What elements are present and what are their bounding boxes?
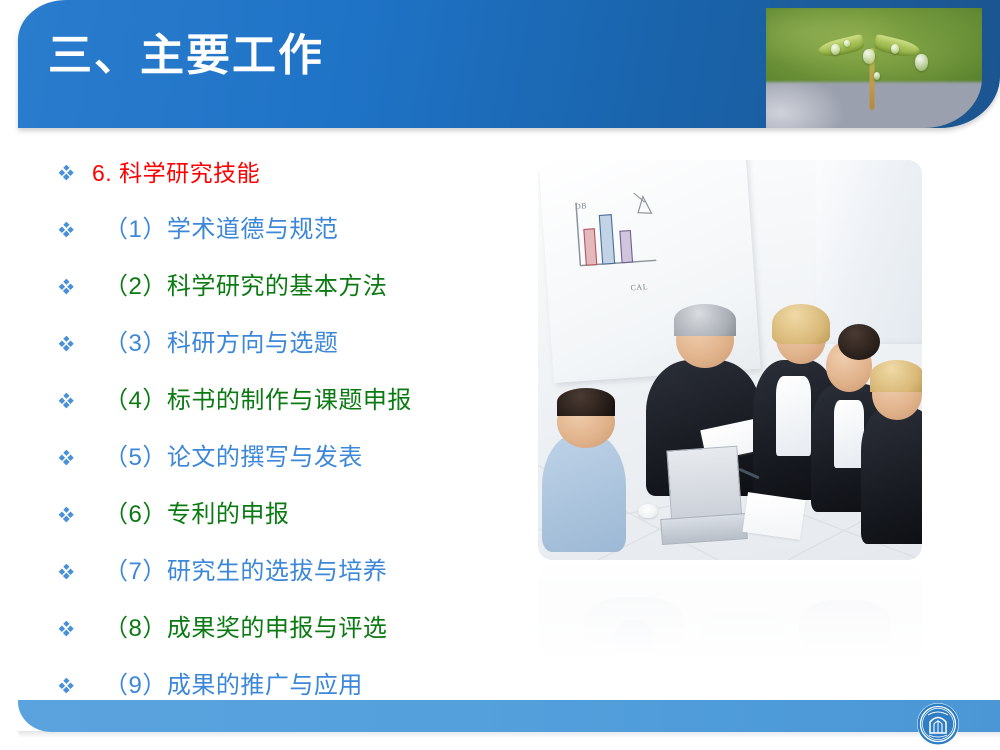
water-droplet [831,44,840,55]
bullet-list-item: （5）论文的撰写与发表 [58,443,528,500]
water-droplet [863,49,875,64]
document-on-table [743,492,806,540]
bullet-list: 6. 科学研究技能（1）学术道德与规范（2）科学研究的基本方法（3）科研方向与选… [58,158,528,728]
four-diamond-bullet-icon [58,222,92,238]
four-diamond-bullet-icon [58,336,92,352]
office-window [814,160,922,344]
presenter-hair [674,304,735,336]
participant-hair-bun [838,324,880,360]
bullet-list-item-label: （7）研究生的选拔与培养 [92,557,528,587]
bullet-list-item: （7）研究生的选拔与培养 [58,557,528,614]
participant-body [861,408,922,544]
bullet-list-item-label: （9）成果的推广与应用 [92,671,528,701]
bullet-list-item-label: （5）论文的撰写与发表 [92,443,528,473]
bullet-list-item: （8）成果奖的申报与评选 [58,614,528,671]
university-seal-logo [916,702,960,746]
water-droplet [915,54,928,71]
four-diamond-bullet-icon [58,564,92,580]
footer-bar-shadow [18,731,1000,738]
footer-bar [18,700,1000,732]
four-diamond-bullet-icon [58,507,92,523]
business-meeting-photo: DB CAL [538,160,922,560]
four-diamond-bullet-icon [58,450,92,466]
bullet-list-item-label: （1）学术道德与规范 [92,215,528,245]
participant-hair [557,388,615,416]
four-diamond-bullet-icon [58,678,92,694]
whiteboard-bar-chart [562,188,718,306]
bullet-list-item: 6. 科学研究技能 [58,158,528,215]
bullet-list-item: （1）学术道德与规范 [58,215,528,272]
participant-blouse [834,400,865,468]
bullet-list-item: （4）标书的制作与课题申报 [58,386,528,443]
reflection-fade [538,562,922,658]
participant-hair [772,304,830,344]
coffee-cup [638,504,658,518]
four-diamond-bullet-icon [58,621,92,637]
bullet-list-item-label: （6）专利的申报 [92,500,528,530]
participant-hair [870,360,922,392]
bullet-list-item-label: （2）科学研究的基本方法 [92,272,528,302]
bullet-list-item-label: 6. 科学研究技能 [92,158,528,188]
participant-blouse [776,376,811,456]
meeting-photo-frame: DB CAL [538,160,922,660]
slide-canvas: 三、主要工作 6. 科学研究技能（1）学术道德与规范（2）科学研究的基本方法（3… [0,0,1000,750]
bullet-list-item: （2）科学研究的基本方法 [58,272,528,329]
four-diamond-bullet-icon [58,393,92,409]
photo-reflection [538,562,922,658]
bullet-list-item: （3）科研方向与选题 [58,329,528,386]
four-diamond-bullet-icon [58,279,92,295]
bullet-list-item-label: （4）标书的制作与课题申报 [92,386,528,416]
seedling-sprout-photo [766,8,982,128]
participant-body [542,432,626,552]
page-title: 三、主要工作 [48,34,324,78]
four-diamond-bullet-icon [58,165,92,181]
bullet-list-item-label: （3）科研方向与选题 [92,329,528,359]
water-droplet [874,72,880,80]
bullet-list-item-label: （8）成果奖的申报与评选 [92,614,528,644]
bullet-list-item: （6）专利的申报 [58,500,528,557]
